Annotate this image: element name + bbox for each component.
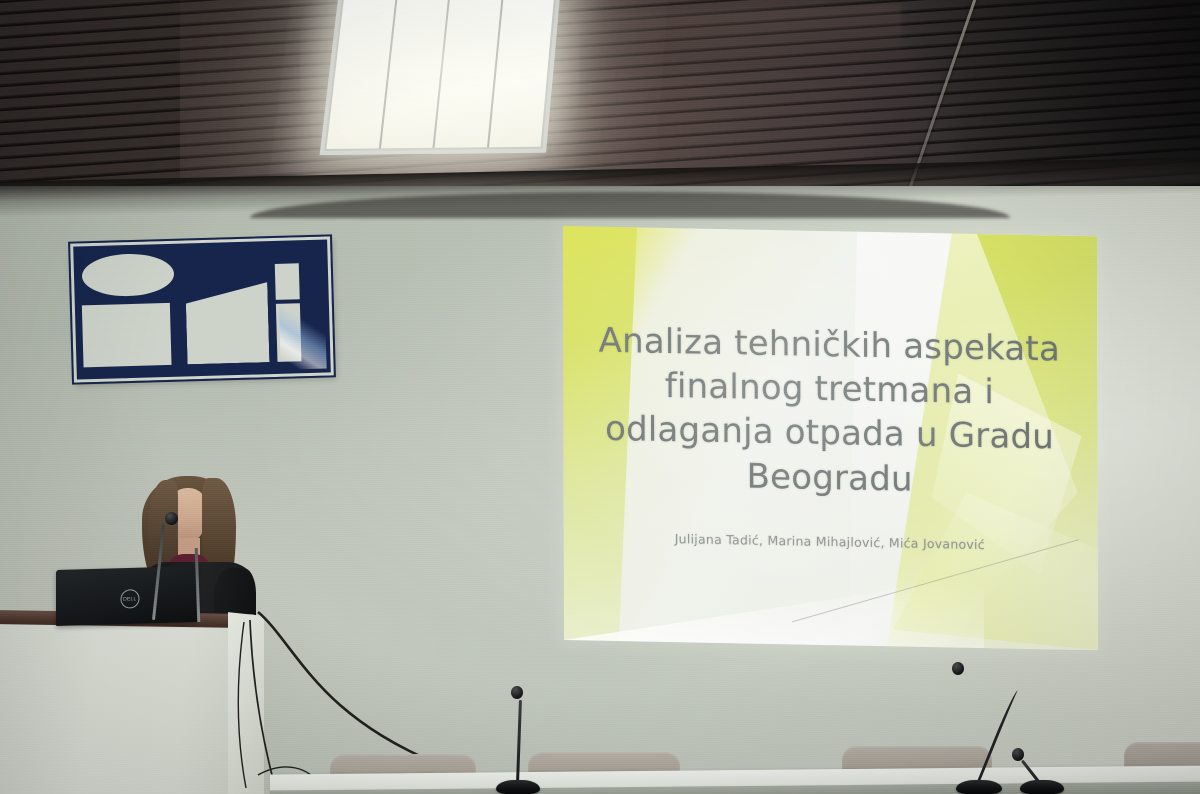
podium-side-panel [228,612,264,794]
plaque-rect-shape-icon [82,303,172,367]
slide-title-line-4: Beogradu [746,456,912,499]
microphone-gooseneck [516,700,522,784]
slide-title-line-1: Analiza tehničkih aspekata [599,321,1060,370]
plaque-stem-shape-icon [276,303,302,362]
podium-microphone-head [165,512,178,525]
conference-room-scene: Analiza tehničkih aspekata finalnog tret… [0,0,1200,794]
ceiling-light-fixture [320,0,562,155]
laptop[interactable]: DELL [56,566,198,626]
microphone-head [511,686,523,699]
table-microphone-left [496,686,544,794]
slide-title-line-2: finalnog tretmana i [665,366,994,412]
projected-presentation-slide: Analiza tehničkih aspekata finalnog tret… [563,226,1098,650]
ceiling-vent [571,4,903,75]
table-microphone-right [950,660,1002,794]
slide-title: Analiza tehničkih aspekata finalnog tret… [591,319,1067,505]
microphone-base [1020,780,1064,794]
microphone-base [496,780,540,794]
plaque-inner [78,245,325,375]
institute-wall-plaque [70,236,334,382]
podium [0,624,252,794]
plaque-ellipse-shape-icon [81,253,174,298]
microphone-head [952,662,964,675]
slide-text-block: Analiza tehničkih aspekata finalnog tret… [591,319,1068,554]
dell-logo-icon: DELL [120,590,139,610]
plaque-swoosh-shape-icon [185,282,269,364]
slide-title-line-3: odlaganja otpada u Gradu [605,409,1054,458]
light-diffuser-panel [326,0,555,149]
table-microphone-far-right [1020,742,1066,794]
microphone-base [956,780,1002,794]
plaque-bar-shape-icon [275,263,300,300]
